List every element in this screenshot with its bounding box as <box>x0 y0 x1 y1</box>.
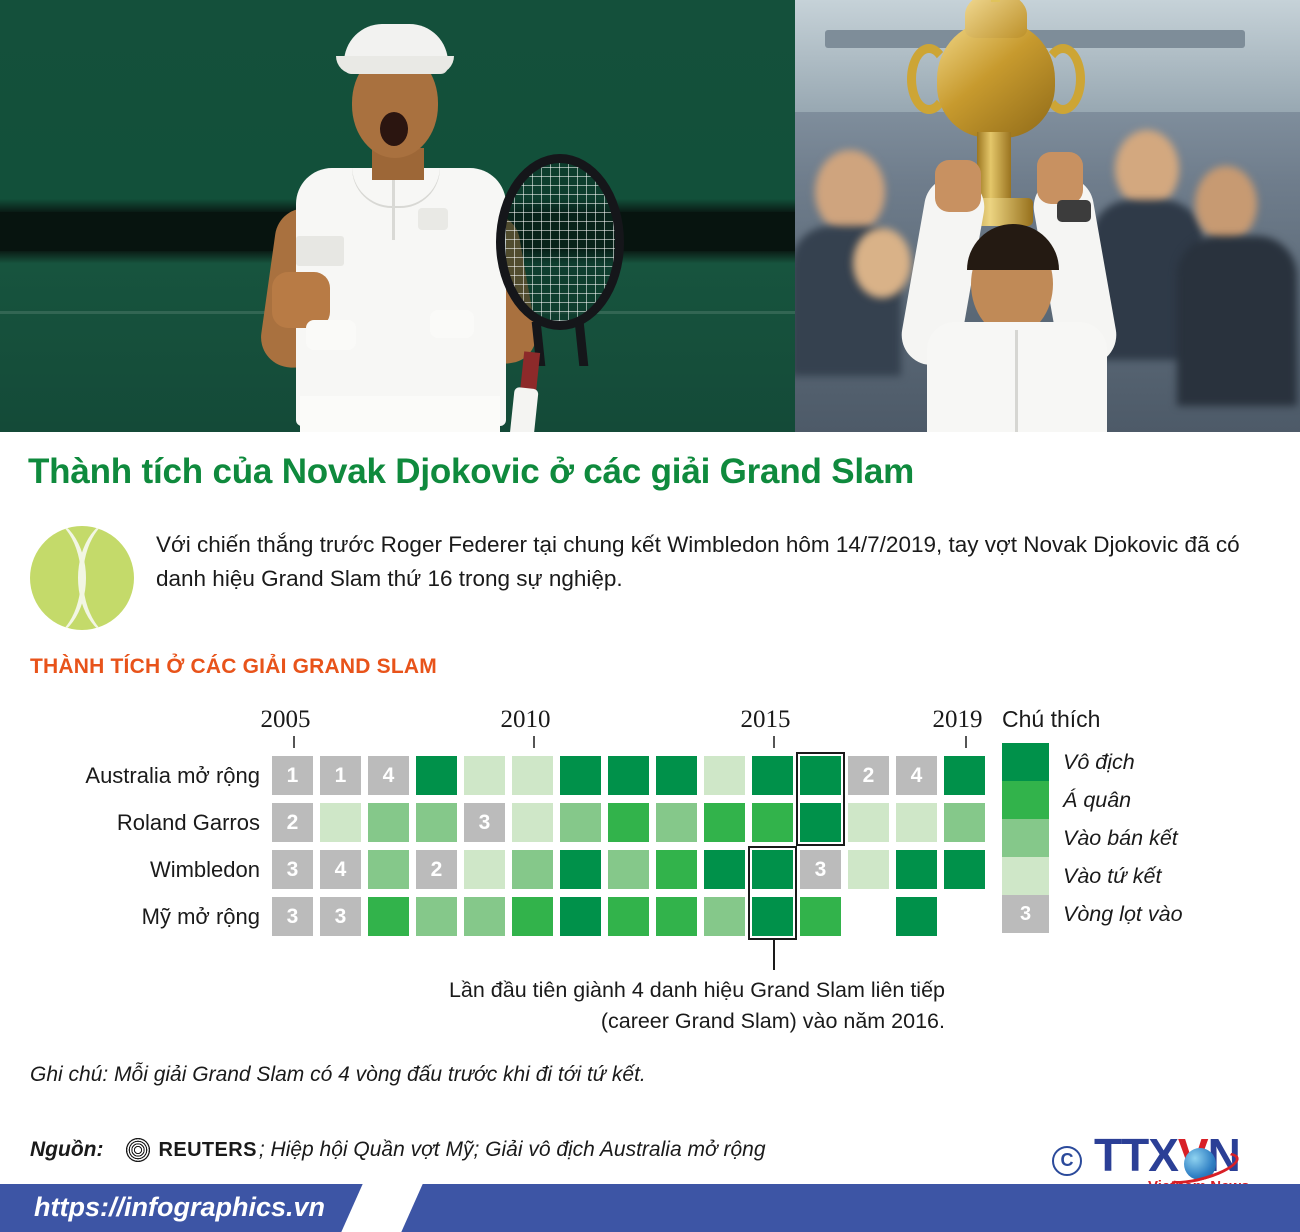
result-cell[interactable] <box>368 803 409 842</box>
legend-label: Vào bán kết <box>1063 826 1178 851</box>
reuters-name: REUTERS <box>158 1139 256 1162</box>
legend-label: Á quân <box>1063 788 1131 813</box>
annotation-leader-line <box>773 940 775 970</box>
annotation-line-1: Lần đầu tiên giành 4 danh hiệu Grand Sla… <box>0 975 945 1006</box>
result-cell[interactable] <box>608 897 649 936</box>
trophy-finial <box>991 0 1000 2</box>
player-brand-logo <box>418 208 448 230</box>
year-tick-2015 <box>773 736 775 748</box>
tournament-row-labels: Australia mở rộngRoland GarrosWimbledonM… <box>0 756 260 944</box>
year-label-2005: 2005 <box>261 706 311 734</box>
player-wristband-left <box>306 320 356 350</box>
result-cell[interactable] <box>368 897 409 936</box>
result-cell[interactable] <box>656 897 697 936</box>
legend-label: Vào tứ kết <box>1063 864 1161 889</box>
result-cell[interactable] <box>320 803 361 842</box>
year-tick-2005 <box>293 736 295 748</box>
legend-swatch <box>1002 857 1049 895</box>
result-cell[interactable] <box>896 803 937 842</box>
result-cell[interactable] <box>368 850 409 889</box>
legend-item-2[interactable]: Vào bán kết <box>1002 819 1292 857</box>
row-label-1: Roland Garros <box>0 803 260 850</box>
grand-slam-results-heatmap: 2005201020152019 Australia mở rộngRoland… <box>0 706 1300 956</box>
reuters-logo-icon <box>125 1137 151 1163</box>
result-cell-label: 3 <box>272 850 313 889</box>
legend-swatch-label: 3 <box>1002 895 1049 933</box>
crowd-face <box>853 228 911 298</box>
year-label-2010: 2010 <box>501 706 551 734</box>
ball-seam-right <box>78 526 134 630</box>
result-cell[interactable] <box>752 850 793 889</box>
result-cell[interactable] <box>416 803 457 842</box>
result-cell-label: 2 <box>416 850 457 889</box>
legend-label: Vòng lọt vào <box>1063 902 1183 927</box>
result-cell[interactable] <box>656 756 697 795</box>
source-line: Nguồn: REUTERS ; Hiệp hội Quần vợt Mỹ; G… <box>30 1137 766 1163</box>
result-cell[interactable] <box>800 803 841 842</box>
result-cell-label: 3 <box>464 803 505 842</box>
result-cell[interactable]: 3 <box>272 850 313 889</box>
player-mouth <box>380 112 408 146</box>
result-cell[interactable] <box>944 803 985 842</box>
legend-item-3[interactable]: Vào tứ kết <box>1002 857 1292 895</box>
result-cell[interactable] <box>896 850 937 889</box>
result-cell[interactable] <box>752 756 793 795</box>
source-rest: ; Hiệp hội Quần vợt Mỹ; Giải vô địch Aus… <box>259 1138 766 1162</box>
year-tick-2019 <box>965 736 967 748</box>
result-cell[interactable] <box>944 756 985 795</box>
result-cell[interactable] <box>512 897 553 936</box>
legend: Chú thích Vô địchÁ quânVào bán kếtVào tứ… <box>1002 706 1292 933</box>
result-cell[interactable] <box>752 803 793 842</box>
player-wristband-right <box>430 310 474 338</box>
year-axis: 2005201020152019 <box>0 706 1000 750</box>
legend-item-1[interactable]: Á quân <box>1002 781 1292 819</box>
result-cell-label: 4 <box>320 850 361 889</box>
legend-swatch: 3 <box>1002 895 1049 933</box>
photo-djokovic-celebrating <box>0 0 795 432</box>
result-cell[interactable] <box>848 803 889 842</box>
result-cell[interactable] <box>512 756 553 795</box>
djokovic-left-hand <box>935 160 981 212</box>
row-label-2: Wimbledon <box>0 850 260 897</box>
result-cell[interactable] <box>752 897 793 936</box>
crowd-face <box>1115 130 1179 208</box>
result-cell[interactable] <box>464 897 505 936</box>
career-grand-slam-annotation: Lần đầu tiên giành 4 danh hiệu Grand Sla… <box>0 975 945 1037</box>
legend-item-0[interactable]: Vô địch <box>1002 743 1292 781</box>
url-banner: https://infographics.vn <box>0 1184 1300 1232</box>
result-cell[interactable]: 4 <box>896 756 937 795</box>
player-cap-brim <box>336 56 454 74</box>
result-cell[interactable] <box>704 803 745 842</box>
result-cell[interactable] <box>848 850 889 889</box>
legend-items: Vô địchÁ quânVào bán kếtVào tứ kết3Vòng … <box>1002 743 1292 933</box>
player-placket <box>392 180 395 240</box>
result-cell[interactable] <box>560 897 601 936</box>
section-heading: THÀNH TÍCH Ở CÁC GIẢI GRAND SLAM <box>30 655 437 679</box>
crowd-body <box>1177 236 1297 406</box>
result-cell[interactable]: 4 <box>320 850 361 889</box>
result-cell[interactable] <box>896 897 937 936</box>
result-cell[interactable]: 1 <box>272 756 313 795</box>
url-banner-notch <box>341 1184 422 1232</box>
racket-throat <box>532 322 589 366</box>
result-cell-label: 1 <box>272 756 313 795</box>
result-cell[interactable] <box>560 803 601 842</box>
crowd-face <box>1195 166 1257 242</box>
result-cell[interactable] <box>704 850 745 889</box>
result-cell[interactable] <box>464 850 505 889</box>
result-cell[interactable] <box>704 756 745 795</box>
year-label-2019: 2019 <box>933 706 983 734</box>
result-cell-label: 3 <box>800 850 841 889</box>
legend-title: Chú thích <box>1002 706 1292 733</box>
result-cell-label: 4 <box>896 756 937 795</box>
crowd-face <box>815 150 885 234</box>
photo-strip <box>0 0 1300 432</box>
result-cell[interactable] <box>944 850 985 889</box>
legend-label: Vô địch <box>1063 750 1135 775</box>
result-cell-label: 1 <box>320 756 361 795</box>
legend-swatch <box>1002 743 1049 781</box>
result-cell[interactable] <box>608 803 649 842</box>
intro-block: Với chiến thắng trước Roger Federer tại … <box>30 520 1270 630</box>
racket-head <box>496 154 624 330</box>
year-label-2015: 2015 <box>741 706 791 734</box>
result-cell-label: 2 <box>848 756 889 795</box>
trophy-lid <box>965 0 1027 38</box>
result-cell[interactable] <box>800 756 841 795</box>
result-cell[interactable] <box>608 756 649 795</box>
intro-text: Với chiến thắng trước Roger Federer tại … <box>156 520 1270 596</box>
legend-swatch <box>1002 781 1049 819</box>
legend-item-4[interactable]: 3Vòng lọt vào <box>1002 895 1292 933</box>
result-cell[interactable]: 3 <box>320 897 361 936</box>
player-sponsor-logo <box>296 236 344 266</box>
result-cell-label: 2 <box>272 803 313 842</box>
result-cell[interactable] <box>560 850 601 889</box>
result-cell[interactable] <box>512 803 553 842</box>
result-cell[interactable]: 1 <box>320 756 361 795</box>
result-cell-label: 3 <box>272 897 313 936</box>
photo-trophy-lift <box>795 0 1300 432</box>
result-cell[interactable] <box>464 756 505 795</box>
result-cell-label: 4 <box>368 756 409 795</box>
row-label-0: Australia mở rộng <box>0 756 260 803</box>
result-cell[interactable] <box>416 897 457 936</box>
result-cell[interactable] <box>800 897 841 936</box>
result-cell-label: 3 <box>320 897 361 936</box>
year-tick-2010 <box>533 736 535 748</box>
result-cell[interactable]: 3 <box>464 803 505 842</box>
page-title: Thành tích của Novak Djokovic ở các giải… <box>28 452 1278 492</box>
player-shorts <box>300 396 500 432</box>
source-label: Nguồn: <box>30 1138 103 1162</box>
result-cell[interactable] <box>656 803 697 842</box>
annotation-line-2: (career Grand Slam) vào năm 2016. <box>0 1006 945 1037</box>
result-cell[interactable]: 3 <box>800 850 841 889</box>
tennis-ball-icon <box>30 526 134 630</box>
result-cell[interactable] <box>608 850 649 889</box>
result-cell[interactable]: 2 <box>416 850 457 889</box>
result-cell[interactable]: 3 <box>272 897 313 936</box>
result-cell[interactable] <box>656 850 697 889</box>
copyright-icon: C <box>1052 1146 1082 1176</box>
djokovic-right-hand <box>1037 152 1083 204</box>
result-cell[interactable] <box>416 756 457 795</box>
racket-grip <box>509 387 538 432</box>
djokovic-jacket-zip <box>1015 330 1018 432</box>
result-cell[interactable]: 2 <box>848 756 889 795</box>
result-cell[interactable] <box>512 850 553 889</box>
result-cell[interactable]: 2 <box>272 803 313 842</box>
footnote: Ghi chú: Mỗi giải Grand Slam có 4 vòng đ… <box>30 1063 646 1087</box>
website-url: https://infographics.vn <box>34 1192 325 1223</box>
result-cell[interactable]: 4 <box>368 756 409 795</box>
row-label-3: Mỹ mở rộng <box>0 897 260 944</box>
djokovic-watch <box>1057 200 1091 222</box>
result-cell[interactable] <box>704 897 745 936</box>
result-cell[interactable] <box>560 756 601 795</box>
legend-swatch <box>1002 819 1049 857</box>
